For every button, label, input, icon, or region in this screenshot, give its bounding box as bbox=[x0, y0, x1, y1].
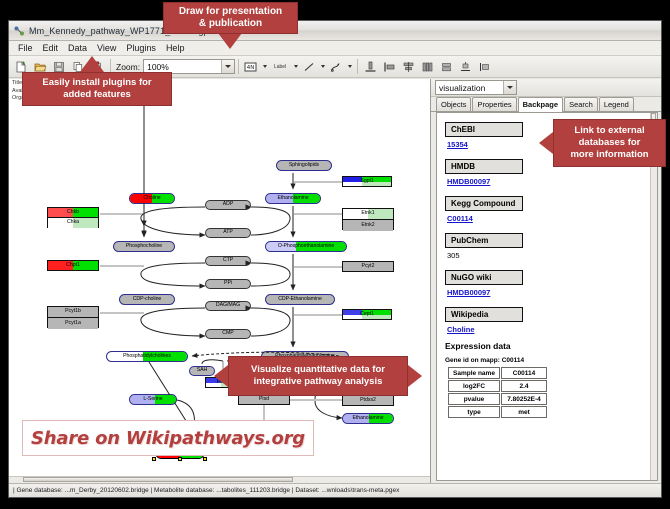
share-banner: Share on Wikipathways.org bbox=[22, 420, 314, 456]
label-icon[interactable]: Label bbox=[269, 58, 291, 76]
selection-handle-sw[interactable] bbox=[152, 457, 156, 461]
callout-visualize-line2: integrative pathway analysis bbox=[251, 376, 385, 388]
status-text: | Gene database: ...m_Derby_20120602.bri… bbox=[13, 487, 399, 494]
cell-key-pvalue: pvalue bbox=[448, 393, 500, 405]
callout-link-line3: more information bbox=[570, 149, 648, 161]
node-label: SAH bbox=[197, 368, 208, 373]
cell-key-type: type bbox=[448, 406, 500, 418]
fill-up bbox=[343, 177, 362, 182]
callout-link-arrow bbox=[539, 132, 553, 154]
callout-link-line1: Link to external bbox=[570, 125, 648, 137]
tab-properties[interactable]: Properties bbox=[472, 97, 516, 111]
align-left-icon[interactable] bbox=[380, 58, 398, 76]
backpage-link-kegg[interactable]: C00114 bbox=[447, 214, 657, 223]
gene-label: Etnk1 bbox=[361, 211, 374, 216]
gene-chpt1[interactable]: Chpt1 bbox=[47, 260, 99, 271]
backpage-link-wikipedia[interactable]: Choline bbox=[447, 325, 657, 334]
label-dropdown-icon[interactable] bbox=[292, 59, 300, 75]
node-label: Sphingolipids bbox=[289, 163, 319, 168]
common-width-icon[interactable] bbox=[437, 58, 455, 76]
gene-label: Pcyt1a bbox=[65, 321, 81, 326]
gene-label: Pcyt2 bbox=[362, 264, 375, 269]
cell-value-log2fc: 2.4 bbox=[501, 380, 547, 392]
node-label: O-Phosphoethanolamine bbox=[278, 244, 334, 249]
cell-value-pvalue: 7.80252E-4 bbox=[501, 393, 547, 405]
svg-text:4N: 4N bbox=[247, 65, 254, 71]
menu-bar: File Edit Data View Plugins Help bbox=[9, 41, 661, 56]
callout-visualize-arrow-left bbox=[214, 365, 228, 387]
node-label: Ethanolamine bbox=[277, 196, 308, 201]
gene-label: Pcyt1b bbox=[65, 309, 81, 314]
callout-plugins: Easily install plugins for added feature… bbox=[22, 72, 172, 106]
callout-plugins-arrow bbox=[80, 56, 104, 72]
node-label: PPi bbox=[224, 281, 232, 286]
zoom-value: 100% bbox=[147, 62, 221, 72]
toolbar-separator-3 bbox=[357, 59, 358, 74]
backpage-header-kegg: Kegg Compound bbox=[445, 196, 523, 211]
cell-key-sample-name: Sample name bbox=[448, 367, 500, 379]
distribute-icon[interactable] bbox=[418, 58, 436, 76]
interaction-dropdown-icon[interactable] bbox=[346, 59, 354, 75]
node-o-phosphoethanolamine[interactable]: O-Phosphoethanolamine bbox=[265, 241, 347, 252]
selection-handle-se[interactable] bbox=[203, 457, 207, 461]
tab-legend[interactable]: Legend bbox=[599, 97, 634, 111]
callout-draw-line2: & publication bbox=[179, 18, 282, 30]
label-button-text: Label bbox=[274, 64, 286, 70]
callout-plugins-line2: added features bbox=[42, 89, 151, 101]
backpage-header-pubchem: PubChem bbox=[445, 233, 523, 248]
chevron-down-icon[interactable] bbox=[503, 81, 516, 94]
expression-data-table: Sample name C00114 log2FC 2.4 pvalue 7.8… bbox=[447, 366, 548, 419]
backpage-vscrollbar[interactable] bbox=[650, 113, 657, 480]
backpage-header-nugo: NuGO wiki bbox=[445, 270, 523, 285]
backpage-link-nugo[interactable]: HMDB00097 bbox=[447, 288, 657, 297]
expression-data-title: Expression data bbox=[445, 341, 657, 351]
cell-key-log2fc: log2FC bbox=[448, 380, 500, 392]
share-banner-text: Share on Wikipathways.org bbox=[31, 428, 305, 449]
zoom-label: Zoom: bbox=[116, 62, 140, 72]
gene-label: Chkb bbox=[67, 210, 79, 215]
stack-center-icon[interactable] bbox=[399, 58, 417, 76]
side-tabs: Objects Properties Backpage Search Legen… bbox=[431, 97, 661, 112]
menu-help[interactable]: Help bbox=[161, 42, 190, 55]
table-row: type met bbox=[448, 406, 547, 418]
callout-link: Link to external databases for more info… bbox=[553, 119, 666, 167]
node-label: CMP bbox=[222, 331, 233, 336]
gene-label: Ptdss2 bbox=[360, 398, 376, 403]
status-bar: | Gene database: ...m_Derby_20120602.bri… bbox=[9, 483, 661, 497]
common-height-icon[interactable] bbox=[456, 58, 474, 76]
node-label: ADP bbox=[223, 202, 234, 207]
node-label: L-Serine bbox=[143, 397, 162, 402]
node-label: CDP-Ethanolamine bbox=[278, 297, 322, 302]
chevron-down-icon[interactable] bbox=[221, 60, 234, 73]
node-label: Phosphatidylcholines bbox=[123, 354, 171, 359]
callout-link-line2: databases for bbox=[570, 137, 648, 149]
cell-value-sample-name: C00114 bbox=[501, 367, 547, 379]
callout-draw-arrow bbox=[218, 33, 242, 49]
callout-visualize-arrow-right bbox=[408, 365, 422, 387]
tab-backpage[interactable]: Backpage bbox=[518, 97, 563, 112]
backpage-value-pubchem: 305 bbox=[447, 251, 657, 260]
node-ethanolamine-bottom[interactable]: Ethanolamine bbox=[342, 413, 394, 424]
callout-draw: Draw for presentation & publication bbox=[163, 2, 298, 34]
table-row: pvalue 7.80252E-4 bbox=[448, 393, 547, 405]
menu-plugins[interactable]: Plugins bbox=[121, 42, 161, 55]
menu-edit[interactable]: Edit bbox=[38, 42, 64, 55]
tab-search[interactable]: Search bbox=[564, 97, 598, 111]
table-row: Sample name C00114 bbox=[448, 367, 547, 379]
gene-label: Chka bbox=[67, 220, 79, 225]
menu-data[interactable]: Data bbox=[63, 42, 92, 55]
callout-visualize-line1: Visualize quantitative data for bbox=[251, 364, 385, 376]
backpage-header-wikipedia: Wikipedia bbox=[445, 307, 523, 322]
screenshot-root: Mm_Kennedy_pathway_WP1771_45176.gpml Fil… bbox=[0, 0, 670, 509]
visualization-combo[interactable]: visualization bbox=[435, 80, 517, 95]
node-label: CDP-choline bbox=[133, 297, 162, 302]
node-choline-top[interactable]: Choline bbox=[129, 193, 175, 204]
selection-handle-s[interactable] bbox=[178, 457, 182, 461]
backpage-link-hmdb[interactable]: HMDB00097 bbox=[447, 177, 657, 186]
gene-id-on-mapp: Gene id on mapp: C00114 bbox=[445, 357, 657, 364]
gene-label: Cept1 bbox=[360, 312, 374, 317]
backpage-header-chebi: ChEBI bbox=[445, 122, 523, 137]
callout-plugins-line1: Easily install plugins for bbox=[42, 77, 151, 89]
datanode-icon[interactable]: 4N bbox=[242, 58, 260, 76]
group-icon[interactable] bbox=[475, 58, 493, 76]
node-label: CTP bbox=[223, 258, 233, 263]
node-label: Ethanolamine bbox=[352, 416, 383, 421]
gene-chkb[interactable]: Chkb bbox=[48, 208, 98, 218]
backpage-header-hmdb: HMDB bbox=[445, 159, 523, 174]
line-icon[interactable] bbox=[300, 58, 318, 76]
gene-label: Pisd bbox=[259, 397, 269, 402]
backpage-content[interactable]: ChEBI 15354 HMDB HMDB00097 Kegg Compound… bbox=[436, 112, 658, 481]
node-label: Phosphocholine bbox=[126, 244, 162, 249]
gene-label: Sgpl1 bbox=[360, 179, 373, 184]
visualization-value: visualization bbox=[439, 83, 503, 93]
pathvisio-icon bbox=[13, 25, 25, 37]
interaction-icon[interactable] bbox=[327, 58, 345, 76]
align-top-icon[interactable] bbox=[361, 58, 379, 76]
menu-file[interactable]: File bbox=[13, 42, 38, 55]
visualization-bar: visualization bbox=[431, 79, 661, 97]
node-ethanolamine-top[interactable]: Ethanolamine bbox=[265, 193, 321, 204]
callout-draw-line1: Draw for presentation bbox=[179, 6, 282, 18]
callout-visualize: Visualize quantitative data for integrat… bbox=[228, 356, 408, 396]
node-label: ATP bbox=[223, 230, 233, 235]
tab-objects[interactable]: Objects bbox=[436, 97, 471, 111]
node-l-serine-left[interactable]: L-Serine bbox=[129, 394, 177, 405]
datanode-dropdown-icon[interactable] bbox=[261, 59, 269, 75]
node-label: Choline bbox=[143, 196, 160, 201]
gene-label: Etnk2 bbox=[361, 223, 374, 228]
node-label: DAG/MAG bbox=[216, 303, 240, 308]
cell-value-type: met bbox=[501, 406, 547, 418]
toolbar-separator-2 bbox=[238, 59, 239, 74]
table-row: log2FC 2.4 bbox=[448, 380, 547, 392]
line-dropdown-icon[interactable] bbox=[319, 59, 327, 75]
window-title-bar: Mm_Kennedy_pathway_WP1771_45176.gpml bbox=[9, 21, 661, 41]
menu-view[interactable]: View bbox=[92, 42, 121, 55]
gene-label: Chpt1 bbox=[66, 263, 80, 268]
